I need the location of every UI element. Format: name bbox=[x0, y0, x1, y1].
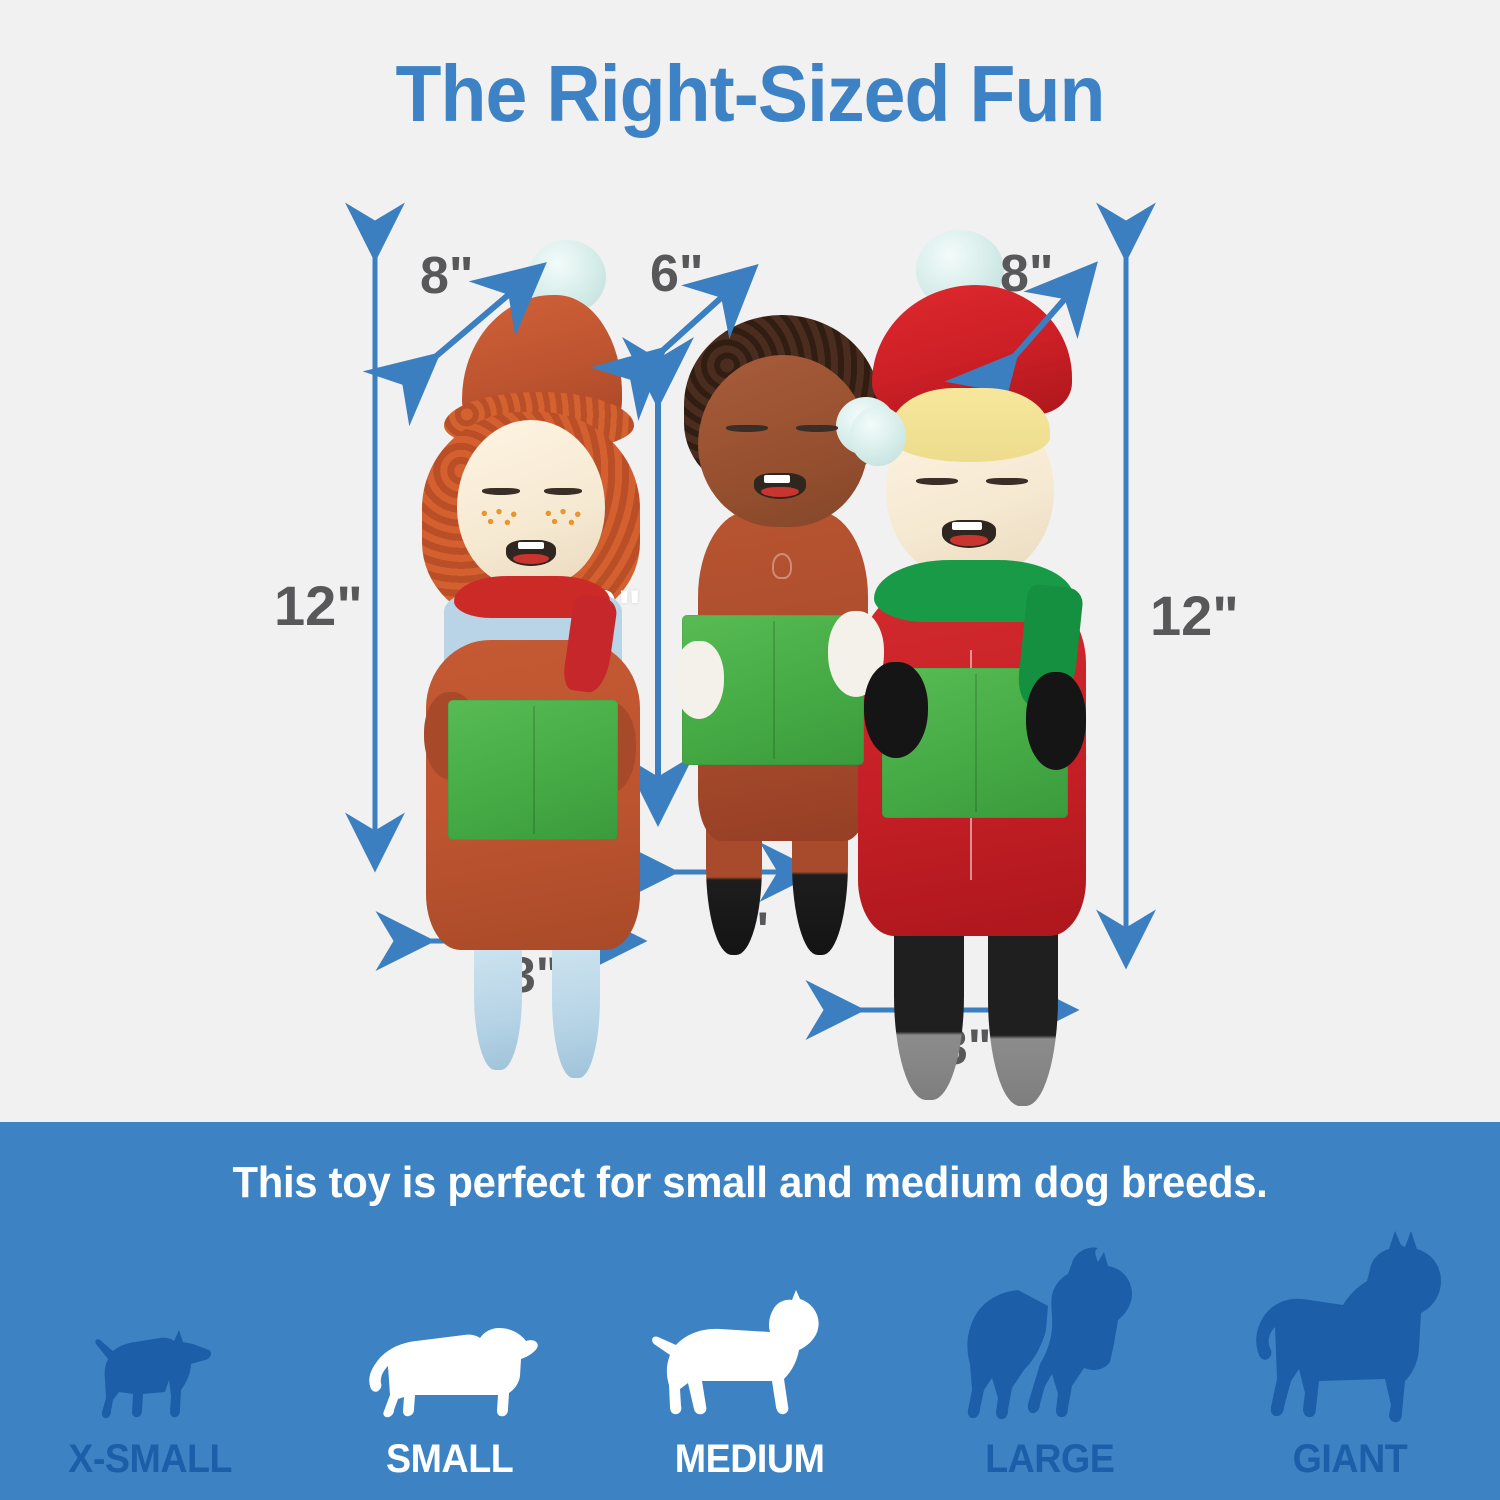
right-mitten bbox=[1026, 672, 1086, 770]
size-label-giant: GIANT bbox=[1293, 1437, 1408, 1482]
freckles-left bbox=[478, 508, 520, 526]
mouth bbox=[506, 540, 556, 566]
left-doll bbox=[400, 240, 660, 1070]
page-title: The Right-Sized Fun bbox=[45, 48, 1455, 140]
size-label-large: LARGE bbox=[985, 1437, 1114, 1482]
chihuahua-silhouette-icon bbox=[75, 1244, 225, 1429]
right-eye bbox=[796, 425, 838, 432]
mouth bbox=[754, 473, 806, 499]
product-photo-area bbox=[0, 150, 1500, 1115]
tooth bbox=[952, 522, 982, 530]
right-leg-boot bbox=[988, 920, 1058, 1106]
left-eye bbox=[726, 425, 768, 432]
bull-terrier-silhouette-icon bbox=[650, 1244, 850, 1429]
tooth bbox=[764, 475, 790, 483]
size-option-small[interactable]: SMALL bbox=[300, 1230, 600, 1500]
size-option-medium[interactable]: MEDIUM bbox=[600, 1230, 900, 1500]
songbook bbox=[448, 700, 618, 840]
right-boot bbox=[552, 940, 600, 1078]
measure-label-right-diagonal: 8" bbox=[1000, 248, 1054, 300]
dachshund-silhouette-icon bbox=[358, 1244, 543, 1429]
left-eye bbox=[916, 478, 958, 485]
measure-label-right-height: 12" bbox=[1150, 588, 1239, 644]
left-eye bbox=[482, 488, 520, 495]
size-label-x-small: X-SMALL bbox=[68, 1437, 232, 1482]
right-eye bbox=[986, 478, 1028, 485]
banner-message: This toy is perfect for small and medium… bbox=[38, 1158, 1463, 1208]
infographic-canvas: The Right-Sized Fun bbox=[0, 0, 1500, 1500]
dog-size-scale: X-SMALL SMALL MEDIUM bbox=[0, 1230, 1500, 1500]
dog-size-banner: This toy is perfect for small and medium… bbox=[0, 1122, 1500, 1500]
left-mitten bbox=[864, 662, 928, 758]
size-label-small: SMALL bbox=[386, 1437, 513, 1482]
freckles-right bbox=[542, 508, 584, 526]
earmuff bbox=[850, 406, 906, 466]
measure-label-left-height: 12" bbox=[274, 578, 363, 634]
mouth bbox=[942, 520, 996, 548]
left-mitten bbox=[674, 641, 724, 719]
measure-label-middle-diagonal: 6" bbox=[650, 248, 704, 300]
size-option-giant[interactable]: GIANT bbox=[1200, 1230, 1500, 1500]
button-detail bbox=[772, 553, 792, 579]
tooth bbox=[518, 542, 544, 549]
size-label-medium: MEDIUM bbox=[675, 1437, 825, 1482]
great-dane-silhouette-icon bbox=[1245, 1244, 1455, 1429]
hair-fringe bbox=[890, 388, 1050, 462]
size-option-x-small[interactable]: X-SMALL bbox=[0, 1230, 300, 1500]
measure-label-left-diagonal: 8" bbox=[420, 250, 474, 302]
size-option-large[interactable]: LARGE bbox=[900, 1230, 1200, 1500]
left-boot bbox=[474, 940, 522, 1070]
golden-retriever-silhouette-icon bbox=[948, 1244, 1153, 1429]
right-eye bbox=[544, 488, 582, 495]
